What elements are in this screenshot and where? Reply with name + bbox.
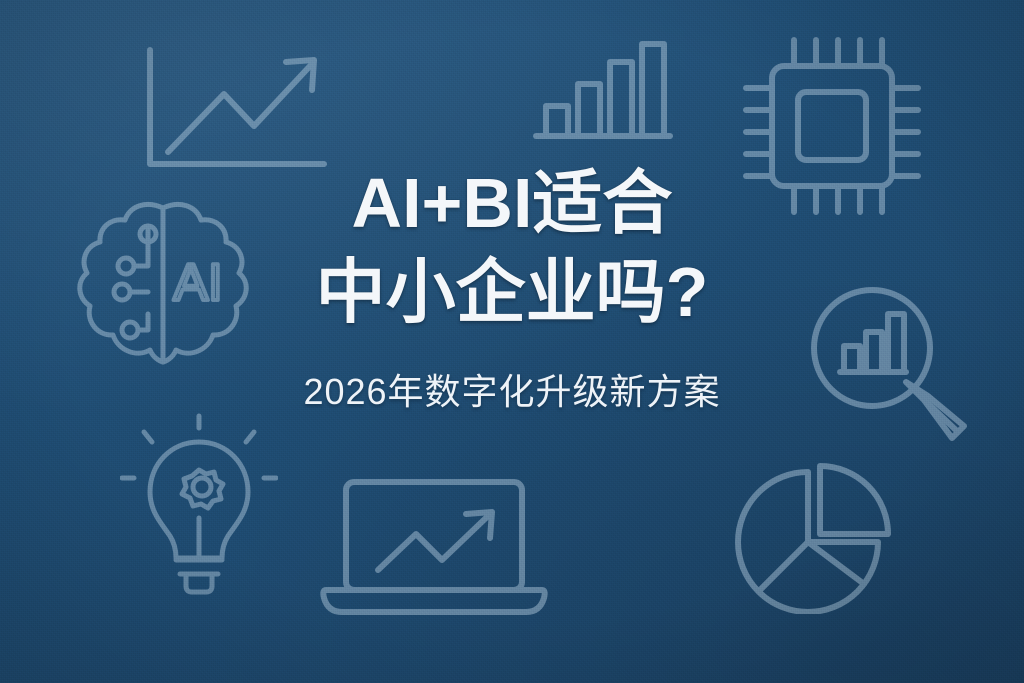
cpu-chip-icon [736, 30, 928, 222]
title-line-1: AI+BI适合 [352, 168, 673, 239]
pie-chart-icon [728, 456, 900, 614]
page-title: AI+BI适合 中小企业吗? [316, 168, 709, 329]
lightbulb-gear-icon [120, 412, 278, 598]
laptop-trend-icon [320, 472, 548, 620]
poster-subtitle: 2026年数字化升级新方案 [303, 363, 720, 415]
ai-brain-circuit-icon: AI [68, 196, 258, 366]
title-line-2: 中小企业吗? [316, 257, 709, 328]
svg-text:AI: AI [173, 254, 222, 312]
magnifier-bar-chart-icon [800, 280, 972, 442]
bar-chart-icon [528, 34, 678, 146]
line-chart-growth-icon [128, 36, 340, 182]
poster-canvas: AI [0, 0, 1024, 683]
